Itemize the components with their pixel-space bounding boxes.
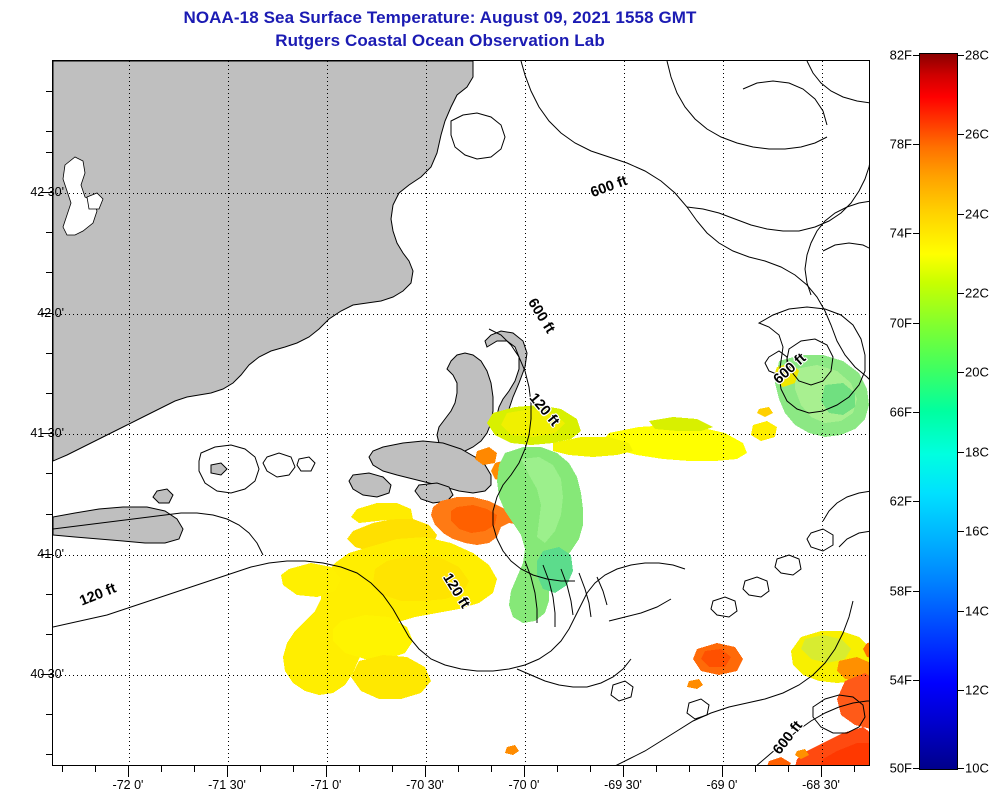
cb-tick-f bbox=[913, 680, 919, 681]
colorbar-label-c: 20C bbox=[965, 365, 989, 380]
x-tick-minor bbox=[689, 766, 690, 772]
contour-nb-b bbox=[839, 531, 870, 547]
land-mainland bbox=[53, 61, 473, 461]
contour-upper-a bbox=[667, 61, 827, 149]
cb-tick-f bbox=[913, 412, 919, 413]
y-tick-minor bbox=[46, 91, 52, 92]
sst-patch-midshelf-band3 bbox=[649, 417, 713, 431]
cb-tick-f bbox=[913, 591, 919, 592]
contour-120ft-tiny bbox=[297, 457, 315, 471]
cb-tick-c bbox=[958, 690, 964, 691]
colorbar-label-c: 14C bbox=[965, 604, 989, 619]
colorbar-label-f: 54F bbox=[890, 673, 912, 688]
y-axis-label: 42 0' bbox=[37, 306, 64, 320]
y-tick-minor bbox=[46, 353, 52, 354]
x-tick-minor bbox=[788, 766, 789, 772]
contour-isle-sm2 bbox=[743, 577, 769, 597]
colorbar-label-c: 28C bbox=[965, 48, 989, 63]
x-axis-label: -68 30' bbox=[802, 778, 840, 792]
colorbar-label-c: 10C bbox=[965, 761, 989, 776]
contour-600ft-main bbox=[521, 61, 870, 381]
x-axis-label: -70 30' bbox=[406, 778, 444, 792]
cb-tick-c bbox=[958, 134, 964, 135]
contour-ne-land2 bbox=[823, 243, 870, 251]
contour-upper-c bbox=[807, 61, 870, 103]
sst-speck-d bbox=[757, 407, 773, 417]
sst-patch-shelf-yellow3 bbox=[333, 615, 413, 659]
colorbar-label-f: 74F bbox=[890, 226, 912, 241]
colorbar-label-c: 12C bbox=[965, 683, 989, 698]
land-block-island bbox=[153, 489, 173, 503]
y-tick-minor bbox=[46, 131, 52, 132]
x-tick-major bbox=[722, 766, 723, 777]
y-tick-minor bbox=[46, 594, 52, 595]
cb-tick-c bbox=[958, 293, 964, 294]
page-subtitle: Rutgers Coastal Ocean Observation Lab bbox=[0, 29, 880, 52]
contour-120ft-branch bbox=[517, 659, 631, 687]
map-plot-area[interactable]: 600 ft 600 ft 600 ft 600 ft 120 ft 120 f… bbox=[52, 60, 870, 766]
x-tick-minor bbox=[194, 766, 195, 772]
contour-cape-ann bbox=[451, 113, 505, 159]
land-small-island-a bbox=[211, 463, 227, 475]
sst-patch-shelf-lobe bbox=[351, 655, 431, 699]
colorbar[interactable]: 82F 78F 74F 70F 66F 62F 58F 54F 50F 28C … bbox=[919, 53, 958, 770]
colorbar-label-c: 22C bbox=[965, 286, 989, 301]
x-tick-minor bbox=[260, 766, 261, 772]
contour-isle-sm4 bbox=[807, 529, 833, 551]
y-tick-minor bbox=[46, 232, 52, 233]
cb-tick-f bbox=[913, 233, 919, 234]
y-tick-minor bbox=[46, 634, 52, 635]
x-tick-minor bbox=[755, 766, 756, 772]
contour-600ft-branch bbox=[687, 157, 870, 231]
sst-data-group bbox=[281, 355, 870, 766]
y-axis-label: 42 30' bbox=[30, 185, 64, 199]
contour-isle-sm6 bbox=[611, 681, 633, 701]
landmass-group bbox=[53, 61, 527, 543]
x-tick-minor bbox=[458, 766, 459, 772]
contour-120ft-island-a bbox=[199, 445, 259, 493]
colorbar-label-f: 82F bbox=[890, 48, 912, 63]
sst-patch-gulfstream-sm bbox=[767, 757, 791, 766]
x-axis-label: -71 30' bbox=[208, 778, 246, 792]
x-tick-minor bbox=[854, 766, 855, 772]
x-axis-label: -70 0' bbox=[509, 778, 540, 792]
sst-patch-small-yellow-e bbox=[751, 421, 777, 441]
x-tick-major bbox=[623, 766, 624, 777]
cb-tick-c bbox=[958, 452, 964, 453]
cb-tick-f bbox=[913, 55, 919, 56]
cb-tick-c bbox=[958, 214, 964, 215]
cb-tick-f bbox=[913, 768, 919, 769]
colorbar-label-f: 58F bbox=[890, 584, 912, 599]
x-tick-major bbox=[227, 766, 228, 777]
land-marthas-vineyard bbox=[349, 473, 391, 497]
x-tick-major bbox=[326, 766, 327, 777]
x-tick-major bbox=[128, 766, 129, 777]
colorbar-label-f: 50F bbox=[890, 761, 912, 776]
page-title: NOAA-18 Sea Surface Temperature: August … bbox=[0, 6, 880, 29]
x-axis-label: -72 0' bbox=[113, 778, 144, 792]
contour-nb-a bbox=[823, 491, 870, 521]
y-tick-minor bbox=[46, 152, 52, 153]
contour-isle-sm5 bbox=[687, 699, 709, 719]
cb-tick-f bbox=[913, 501, 919, 502]
cb-tick-c bbox=[958, 611, 964, 612]
contour-slope-ticks bbox=[609, 599, 671, 621]
y-axis-label: 41 0' bbox=[37, 547, 64, 561]
contour-nearshore-d bbox=[579, 573, 591, 617]
contour-120ft-small-b bbox=[263, 453, 295, 477]
y-tick-minor bbox=[46, 754, 52, 755]
x-tick-major bbox=[524, 766, 525, 777]
map-canvas: 600 ft 600 ft 600 ft 600 ft 120 ft 120 f… bbox=[53, 61, 869, 765]
x-tick-minor bbox=[95, 766, 96, 772]
x-axis-label: -69 0' bbox=[707, 778, 738, 792]
cb-tick-c bbox=[958, 768, 964, 769]
x-tick-minor bbox=[656, 766, 657, 772]
cb-tick-f bbox=[913, 144, 919, 145]
x-tick-minor bbox=[491, 766, 492, 772]
sst-speck-b bbox=[687, 679, 703, 689]
y-tick-minor bbox=[46, 473, 52, 474]
x-tick-minor bbox=[392, 766, 393, 772]
y-axis-label: 41 30' bbox=[30, 426, 64, 440]
x-tick-major bbox=[425, 766, 426, 777]
land-long-island bbox=[53, 507, 183, 543]
colorbar-label-c: 26C bbox=[965, 127, 989, 142]
y-tick-minor bbox=[46, 714, 52, 715]
coastline-and-sst-layer bbox=[53, 61, 870, 766]
y-tick-minor bbox=[46, 393, 52, 394]
sst-speck-a bbox=[505, 745, 519, 755]
land-cape-cod bbox=[437, 353, 493, 453]
x-axis-label: -71 0' bbox=[311, 778, 342, 792]
y-tick-minor bbox=[46, 514, 52, 515]
y-tick-minor bbox=[46, 272, 52, 273]
colorbar-label-f: 70F bbox=[890, 316, 912, 331]
x-tick-minor bbox=[557, 766, 558, 772]
contour-isle-sm1 bbox=[711, 597, 737, 617]
x-tick-major bbox=[821, 766, 822, 777]
cb-tick-c bbox=[958, 55, 964, 56]
x-axis-label: -69 30' bbox=[604, 778, 642, 792]
x-tick-minor bbox=[590, 766, 591, 772]
colorbar-gradient bbox=[919, 53, 958, 770]
x-tick-minor bbox=[359, 766, 360, 772]
contour-isle-sm3 bbox=[775, 555, 801, 575]
cb-tick-c bbox=[958, 531, 964, 532]
contour-nearshore-e bbox=[597, 577, 607, 605]
x-tick-minor bbox=[161, 766, 162, 772]
colorbar-label-f: 62F bbox=[890, 494, 912, 509]
colorbar-label-c: 16C bbox=[965, 524, 989, 539]
colorbar-label-f: 66F bbox=[890, 405, 912, 420]
cb-tick-f bbox=[913, 323, 919, 324]
chart-title-block: NOAA-18 Sea Surface Temperature: August … bbox=[0, 6, 880, 52]
y-axis-label: 40 30' bbox=[30, 667, 64, 681]
colorbar-label-c: 18C bbox=[965, 445, 989, 460]
colorbar-label-f: 78F bbox=[890, 137, 912, 152]
x-tick-minor bbox=[62, 766, 63, 772]
contour-600ft-south bbox=[613, 601, 853, 766]
x-tick-minor bbox=[293, 766, 294, 772]
cb-tick-c bbox=[958, 372, 964, 373]
contour-upper-b bbox=[743, 81, 827, 125]
colorbar-label-c: 24C bbox=[965, 207, 989, 222]
